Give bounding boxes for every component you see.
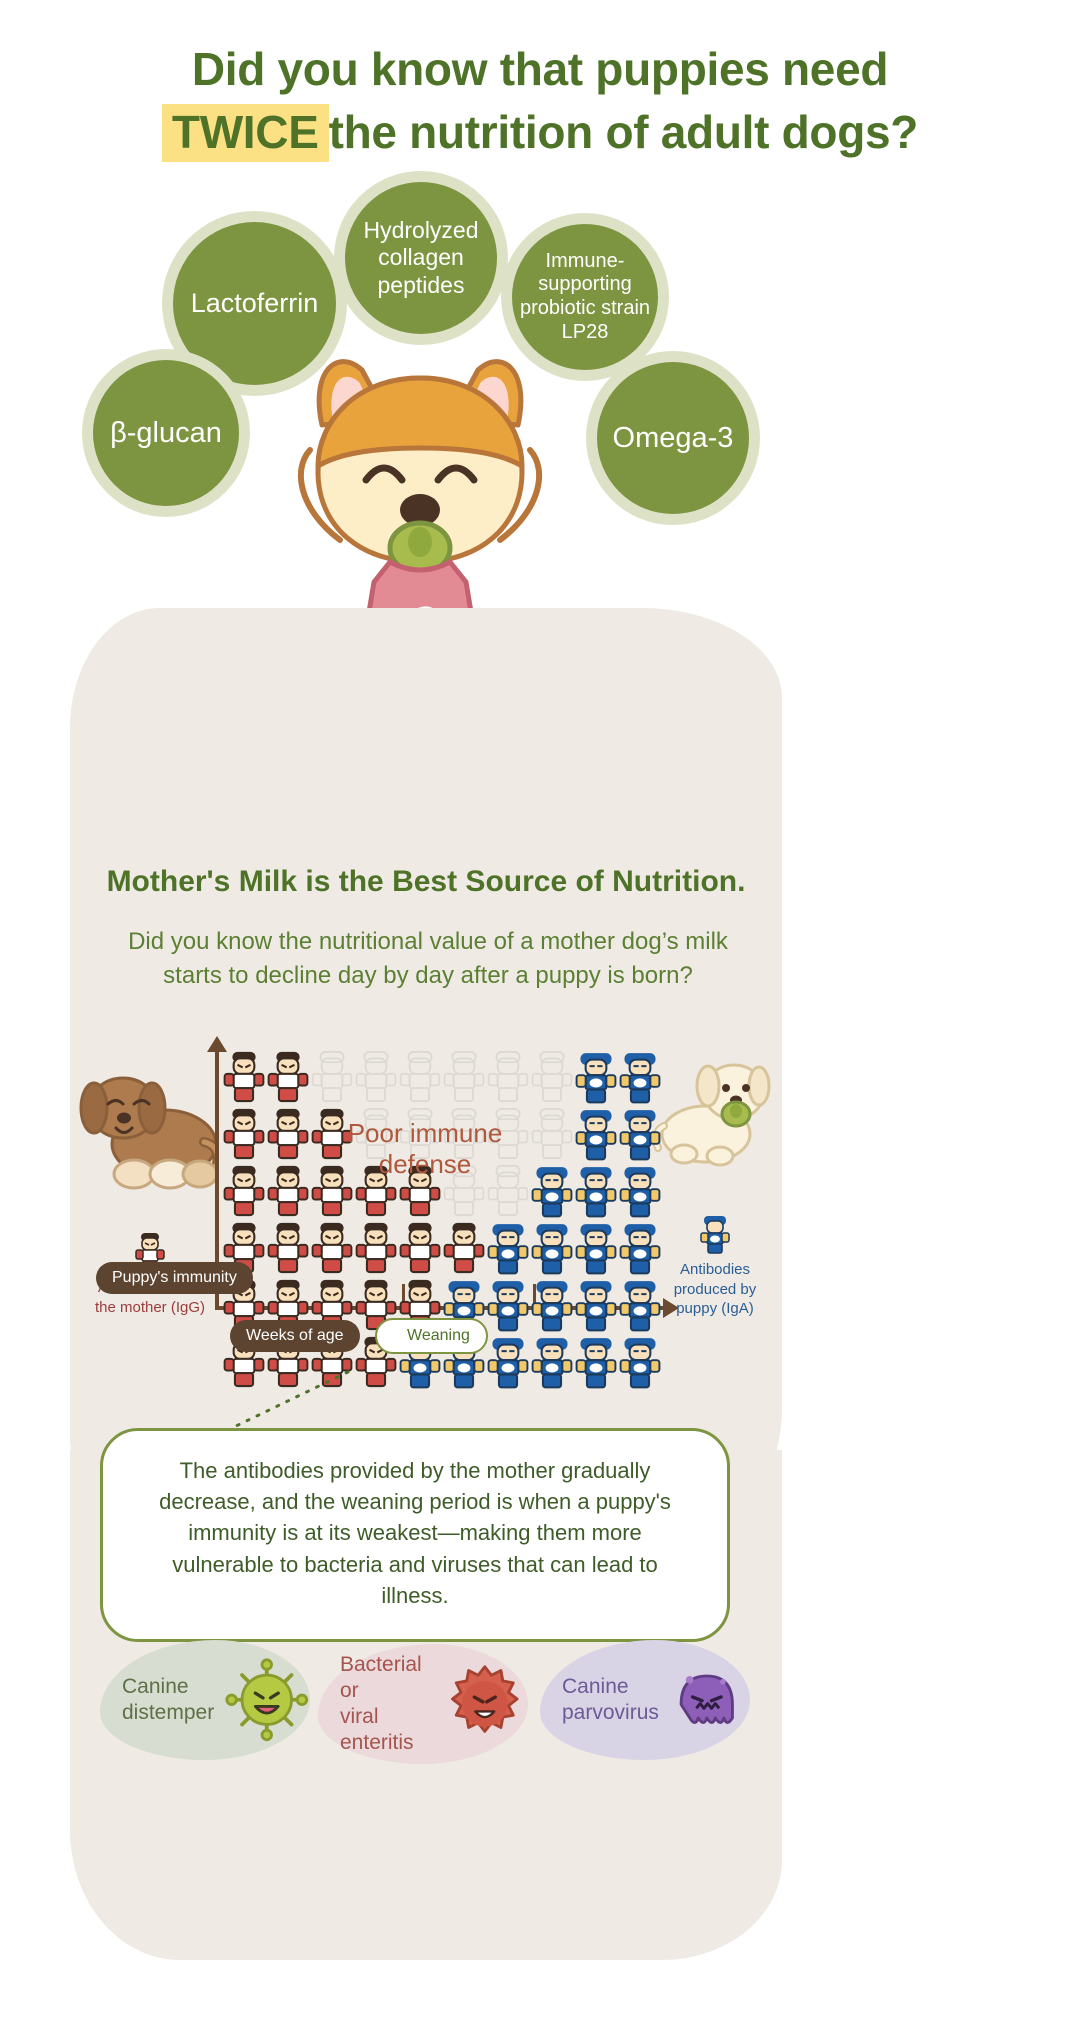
mother-dog-illustration [78, 1046, 218, 1196]
nutrient-circle-omega-3[interactable]: Omega-3 [597, 362, 749, 514]
disease-label: Bacterial or viral enteritis [318, 1652, 442, 1757]
figurine-red [266, 1162, 310, 1219]
callout-bubble: The antibodies provided by the mother gr… [100, 1428, 730, 1642]
disease-canine-parvovirus[interactable]: Canine parvovirus [540, 1640, 750, 1760]
figurine-ghost [530, 1048, 574, 1105]
immunity-chart: Poor immune defense Antibodies from the … [70, 1040, 782, 1370]
nutrient-label: β-glucan [110, 416, 222, 450]
panel-subtitle: Did you know the nutritional value of a … [110, 925, 746, 993]
figurine-ghost [398, 1048, 442, 1105]
figurine-blue [486, 1333, 530, 1390]
figurine-blue [530, 1219, 574, 1276]
nutrient-label: Hydrolyzed collagen peptides [351, 217, 491, 298]
panel-title: Mother's Milk is the Best Source of Nutr… [70, 865, 782, 899]
figurine-blue [486, 1219, 530, 1276]
figurine-red [354, 1219, 398, 1276]
y-axis-tag: Puppy's immunity [96, 1262, 253, 1294]
headline-line-2: TWICEthe nutrition of adult dogs? [0, 101, 1080, 164]
figurine-blue [530, 1276, 574, 1333]
nutrient-label: Omega-3 [613, 421, 734, 455]
figurine-blue [574, 1333, 618, 1390]
headline-line-1: Did you know that puppies need [0, 38, 1080, 101]
figurine-blue [618, 1105, 662, 1162]
figurine-blue [618, 1333, 662, 1390]
figurine-blue [574, 1219, 618, 1276]
figurine-red [266, 1219, 310, 1276]
corgi-puppy-illustration [270, 330, 570, 630]
nutrient-label: Lactoferrin [191, 288, 319, 320]
disease-label: Canine distemper [100, 1674, 224, 1727]
blue-figurine-icon [698, 1212, 732, 1254]
disease-canine-distemper[interactable]: Canine distemper [100, 1640, 310, 1760]
virus-tentacle-icon [664, 1657, 750, 1743]
nutrient-circle-beta-glucan[interactable]: β-glucan [93, 360, 239, 506]
figurine-red [398, 1219, 442, 1276]
nutrient-circle-hydrolyzed-collagen-peptides[interactable]: Hydrolyzed collagen peptides [345, 182, 497, 334]
figurine-blue [530, 1333, 574, 1390]
figurine-blue [618, 1162, 662, 1219]
puppy-illustration-right [652, 1042, 772, 1172]
figurine-blue [618, 1048, 662, 1105]
figurine-blue [574, 1162, 618, 1219]
figurine-red [442, 1219, 486, 1276]
x-axis-tag: Weeks of age [230, 1320, 360, 1352]
legend-puppy-antibodies: Antibodies produced by puppy (IgA) [655, 1212, 775, 1319]
disease-bacterial-viral-enteritis[interactable]: Bacterial or viral enteritis [318, 1644, 528, 1764]
figurine-blue [574, 1105, 618, 1162]
figurine-blue [574, 1276, 618, 1333]
weaning-tag: Weaning [375, 1318, 488, 1354]
virus-round-icon [442, 1661, 528, 1747]
figurine-red [266, 1105, 310, 1162]
figurine-ghost [310, 1048, 354, 1105]
figurine-red [310, 1219, 354, 1276]
figurine-red [266, 1048, 310, 1105]
headline-highlight: TWICE [162, 104, 329, 162]
callout-leader-line [228, 1370, 358, 1430]
figurine-blue [486, 1276, 530, 1333]
figurine-blue [574, 1048, 618, 1105]
page-headline: Did you know that puppies need TWICEthe … [0, 38, 1080, 165]
figurine-ghost [442, 1048, 486, 1105]
figurine-red [222, 1162, 266, 1219]
figurine-ghost [354, 1048, 398, 1105]
figurine-red [222, 1105, 266, 1162]
poor-immune-defense-annotation: Poor immune defense [305, 1118, 545, 1180]
figurine-ghost [486, 1048, 530, 1105]
disease-label: Canine parvovirus [540, 1674, 664, 1727]
virus-spiky-icon [224, 1657, 310, 1743]
figurine-red [222, 1048, 266, 1105]
headline-line-2-rest: the nutrition of adult dogs? [329, 106, 919, 158]
disease-row: Canine distemper [100, 1640, 750, 1780]
